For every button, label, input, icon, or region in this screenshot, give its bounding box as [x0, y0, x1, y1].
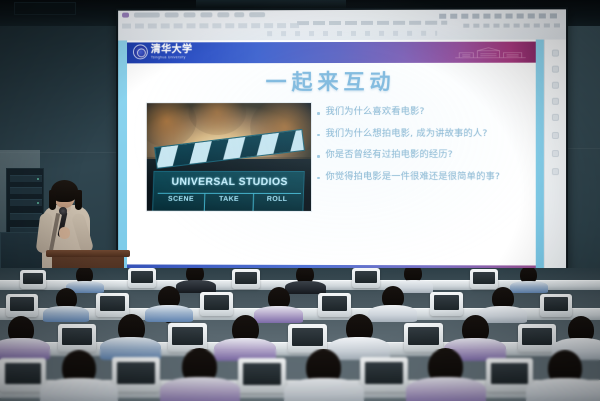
student-shoulders — [368, 305, 417, 322]
clapperboard: UNIVERSAL STUDIOS SCENE TAKE ROLL — [153, 151, 304, 212]
app-side-rail[interactable] — [544, 40, 566, 275]
student-shoulders — [510, 281, 548, 293]
bullet-text: 你觉得拍电影是一件很难还是很简单的事? — [326, 170, 501, 183]
powerpoint-slide[interactable]: 清华大学 Tsinghua University — [118, 40, 544, 275]
app-title-bar — [297, 21, 447, 25]
app-icon-row[interactable] — [267, 31, 437, 36]
clapperboard-fields: SCENE TAKE ROLL — [157, 193, 301, 211]
monitor — [0, 358, 46, 392]
monitor — [360, 357, 408, 392]
bullet-text: 你是否曾经有过拍电影的经历? — [326, 149, 453, 162]
monitor — [238, 358, 286, 393]
student-shoulders — [406, 377, 486, 401]
projection-screen: 清华大学 Tsinghua University — [116, 7, 568, 280]
presenter-hand — [59, 227, 70, 239]
clapperboard-field-roll: ROLL — [253, 194, 301, 211]
slide-accent-left — [118, 40, 127, 273]
monitor — [404, 323, 443, 352]
podium-top — [46, 250, 130, 257]
monitor — [128, 268, 156, 288]
clapperboard-field-take: TAKE — [205, 194, 254, 211]
bullet-text: 我们为什么喜欢看电影? — [326, 106, 425, 119]
monitor — [318, 293, 351, 317]
clapperboard-field-scene: SCENE — [157, 194, 206, 211]
slide-image-clapperboard: UNIVERSAL STUDIOS SCENE TAKE ROLL — [146, 102, 312, 212]
student-shoulders — [254, 306, 303, 323]
university-name-en: Tsinghua University — [151, 55, 193, 59]
ceiling-vent — [14, 2, 76, 15]
student-shoulders — [526, 378, 600, 401]
clapperboard-body: UNIVERSAL STUDIOS SCENE TAKE ROLL — [152, 171, 305, 212]
presenter-hair-side — [49, 190, 56, 210]
clapperboard-brand: UNIVERSAL STUDIOS — [154, 176, 306, 188]
app-tab-strip[interactable] — [122, 12, 265, 17]
app-ribbon[interactable] — [122, 23, 301, 28]
student-shoulders — [145, 305, 193, 322]
bullet-dot-icon — [317, 155, 319, 157]
student-shoulders — [160, 377, 240, 401]
campus-building-line-art-icon — [453, 47, 527, 60]
monitor — [540, 294, 572, 317]
presentation-app-toolbar[interactable] — [118, 9, 566, 40]
university-logo: 清华大学 Tsinghua University — [133, 44, 193, 59]
monitor — [518, 324, 556, 352]
monitor — [20, 270, 46, 289]
student-shoulders — [43, 306, 89, 322]
list-item: 你是否曾经有过拍电影的经历? — [317, 149, 526, 162]
slide-title: 一起来互动 — [127, 66, 536, 97]
monitor — [96, 293, 129, 317]
app-toolbar-right[interactable] — [439, 13, 560, 18]
monitor — [200, 292, 233, 316]
slide-bullet-list: 我们为什么喜欢看电影? 我们为什么想拍电影, 成为讲故事的人? 你是否曾经有过拍… — [317, 106, 526, 192]
monitor — [232, 269, 260, 289]
list-item: 我们为什么想拍电影, 成为讲故事的人? — [317, 127, 526, 140]
monitor — [430, 292, 463, 316]
monitor — [470, 269, 498, 289]
audience-area — [0, 268, 600, 401]
presenter-hair-side — [75, 190, 82, 210]
student-shoulders — [0, 338, 50, 360]
bullet-dot-icon — [317, 134, 319, 136]
bullet-dot-icon — [317, 176, 319, 179]
monitor — [352, 268, 380, 288]
monitor — [112, 357, 160, 392]
slide-accent-right — [536, 40, 544, 275]
monitor — [58, 324, 96, 352]
list-item: 你觉得拍电影是一件很难还是很简单的事? — [317, 170, 526, 183]
bullet-text: 我们为什么想拍电影, 成为讲故事的人? — [326, 127, 488, 140]
university-name-cn: 清华大学 — [151, 44, 193, 55]
lecture-hall-scene: 清华大学 Tsinghua University — [0, 0, 600, 401]
student-shoulders — [40, 378, 118, 401]
microphone-head — [59, 207, 67, 215]
list-item: 我们为什么喜欢看电影? — [317, 106, 526, 119]
slide-header-band: 清华大学 Tsinghua University — [127, 42, 536, 64]
bullet-dot-icon — [317, 112, 319, 115]
app-toolbar-right-secondary[interactable] — [463, 23, 560, 27]
monitor — [6, 294, 38, 317]
student-shoulders — [284, 378, 364, 401]
tsinghua-seal-icon — [133, 44, 148, 59]
